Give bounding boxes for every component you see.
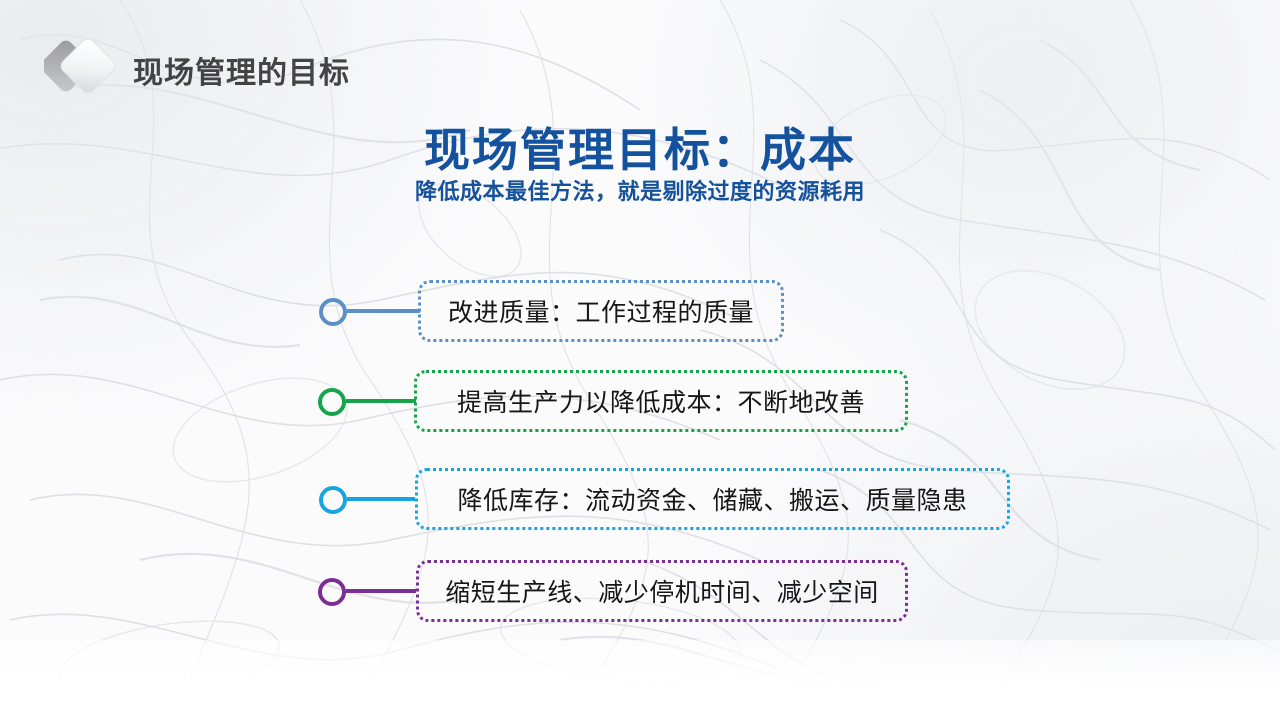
item-box[interactable]: 提高生产力以降低成本：不断地改善 — [414, 370, 908, 432]
connector-line — [347, 309, 420, 313]
bullet-list: 改进质量：工作过程的质量 提高生产力以降低成本：不断地改善 降低库存：流动资金、… — [0, 0, 1280, 720]
connector-line — [346, 399, 416, 403]
circle-outline-icon — [319, 486, 347, 514]
list-item-label: 缩短生产线、减少停机时间、减少空间 — [419, 573, 905, 609]
item-box[interactable]: 降低库存：流动资金、储藏、搬运、质量隐患 — [415, 468, 1010, 530]
circle-outline-icon — [319, 298, 347, 326]
list-item-label: 改进质量：工作过程的质量 — [421, 293, 781, 329]
list-item-label: 提高生产力以降低成本：不断地改善 — [417, 383, 905, 419]
circle-outline-icon — [318, 578, 346, 606]
circle-outline-icon — [318, 388, 346, 416]
item-box[interactable]: 改进质量：工作过程的质量 — [418, 280, 784, 342]
item-box[interactable]: 缩短生产线、减少停机时间、减少空间 — [416, 560, 908, 622]
connector-line — [347, 497, 415, 501]
connector-line — [346, 589, 416, 593]
slide-canvas: 现场管理的目标 现场管理目标：成本 降低成本最佳方法，就是剔除过度的资源耗用 改… — [0, 0, 1280, 720]
list-item-label: 降低库存：流动资金、储藏、搬运、质量隐患 — [418, 481, 1007, 517]
